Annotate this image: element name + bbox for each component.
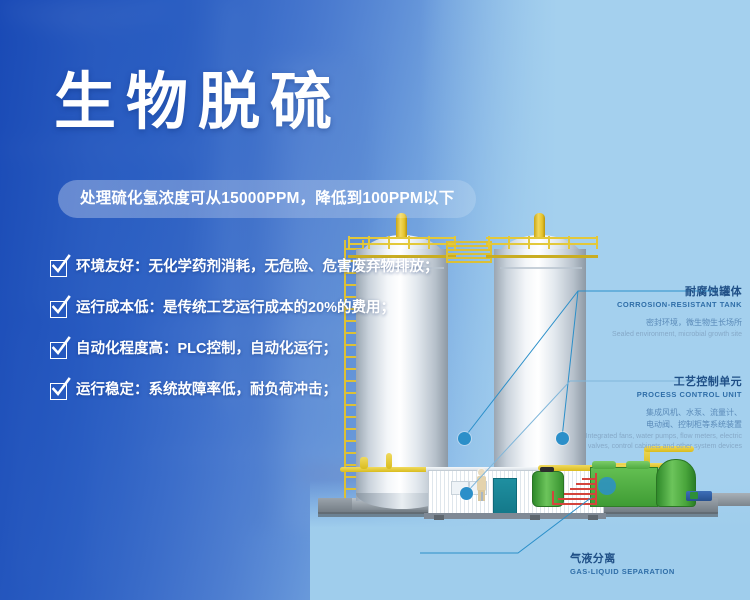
callout-title-en: CORROSION-RESISTANT TANK [492, 300, 742, 311]
callout-process-control-unit: 工艺控制单元 PROCESS CONTROL UNIT 集成风机、水泵、流量计、… [482, 375, 742, 452]
checkbox-checked-icon [50, 260, 67, 277]
list-item: 运行成本低：是传统工艺运行成本的20%的费用； [50, 299, 380, 318]
callout-desc-cn-line1: 集成风机、水泵、流量计、 [482, 407, 742, 419]
callout-desc-en-line2: valves, control cabinets and other syste… [482, 442, 742, 452]
checkbox-checked-icon [50, 342, 67, 359]
list-item-label: 运行稳定：系统故障率低，耐负荷冲击； [76, 381, 337, 399]
marker-dot-control-unit[interactable] [460, 487, 473, 500]
callout-gas-liquid-separation: 气液分离 GAS-LIQUID SEPARATION [570, 552, 730, 578]
process-pipe-riser [386, 453, 392, 469]
callout-desc-en: Sealed environment, microbial growth sit… [492, 330, 742, 340]
process-pipe-riser-2 [360, 457, 368, 469]
page-title: 生物脱硫 [54, 72, 342, 134]
checkbox-checked-icon [50, 383, 67, 400]
list-item-label: 运行成本低：是传统工艺运行成本的20%的费用； [76, 299, 395, 317]
list-item-label: 环境友好：无化学药剂消耗，无危险、危害废弃物排放； [76, 258, 439, 276]
checkbox-checked-icon [50, 301, 67, 318]
container-door [493, 478, 517, 514]
feature-list: 环境友好：无化学药剂消耗，无危险、危害废弃物排放； 运行成本低：是传统工艺运行成… [50, 258, 380, 422]
list-item-label: 自动化程度高：PLC控制，自动化运行； [76, 340, 337, 358]
access-stairs [552, 473, 596, 505]
marker-dot-tank-left[interactable] [458, 432, 471, 445]
list-item: 自动化程度高：PLC控制，自动化运行； [50, 340, 380, 359]
list-item: 环境友好：无化学药剂消耗，无危险、危害废弃物排放； [50, 258, 380, 277]
callout-desc-en-line1: Integrated fans, water pumps, flow meter… [482, 432, 742, 442]
callout-corrosion-resistant-tank: 耐腐蚀罐体 CORROSION-RESISTANT TANK 密封环境，微生物生… [492, 285, 742, 340]
banner-root: 生物脱硫 处理硫化氢浓度可从15000PPM，降低到100PPM以下 环境友好：… [0, 0, 750, 600]
callout-title-cn: 耐腐蚀罐体 [492, 285, 742, 299]
list-item: 运行稳定：系统故障率低，耐负荷冲击； [50, 381, 380, 400]
subtitle-banner: 处理硫化氢浓度可从15000PPM，降低到100PPM以下 [58, 180, 476, 218]
worker-figure [476, 469, 487, 501]
callout-title-cn: 工艺控制单元 [482, 375, 742, 389]
callout-title-cn: 气液分离 [570, 552, 730, 566]
tank-vent-right [534, 213, 545, 239]
callout-title-en: GAS-LIQUID SEPARATION [570, 567, 730, 578]
callout-desc-cn-line2: 电动阀、控制柜等系统装置 [482, 419, 742, 431]
callout-desc-cn: 密封环境，微生物生长场所 [492, 317, 742, 329]
callout-title-en: PROCESS CONTROL UNIT [482, 390, 742, 401]
